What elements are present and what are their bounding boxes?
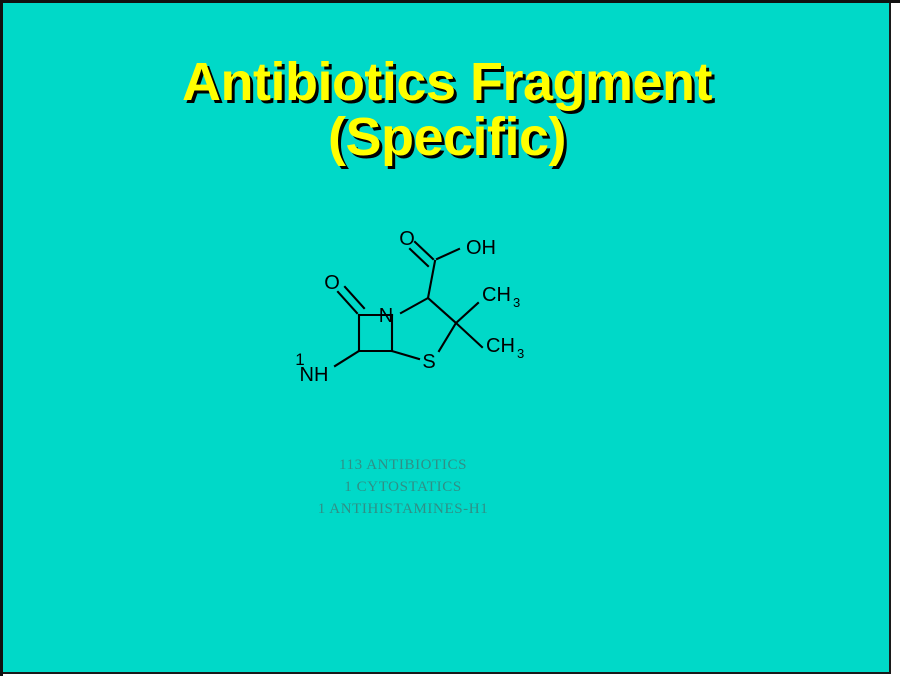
atom-label-ketone-oxygen: O	[324, 272, 340, 294]
title-line-2: (Specific)	[3, 110, 891, 165]
slide-left-border	[0, 0, 3, 676]
atom-label-hydroxyl: OH	[466, 237, 496, 259]
page-title: Antibiotics Fragment (Specific)	[3, 55, 891, 165]
amine-bond	[335, 351, 359, 366]
slide-top-border	[0, 0, 900, 3]
caption-line-antihistamines: 1 ANTIHISTAMINES-H1	[153, 499, 653, 521]
caption-line-cytostatics: 1 CYTOSTATICS	[153, 477, 653, 499]
atom-label-methyl-bottom: CH	[486, 335, 515, 357]
title-line-1: Antibiotics Fragment	[3, 55, 891, 110]
atom-label-methyl-top: CH	[482, 284, 511, 306]
ketone-double-bond	[338, 287, 364, 313]
atom-label-ring-nitrogen: N	[379, 305, 393, 327]
slide-canvas: Antibiotics Fragment (Specific)	[3, 3, 891, 674]
caption-list: 113 ANTIBIOTICS 1 CYTOSTATICS 1 ANTIHIST…	[153, 455, 653, 520]
atom-index-label-1: 1	[295, 350, 304, 369]
chemical-structure-diagram: N S O O OH NH 1 CH 3 CH 3	[273, 218, 543, 403]
carboxyl-group-bonds	[410, 242, 459, 298]
thiazolidine-ring-bonds	[392, 298, 456, 359]
atom-label-methyl-top-subscript: 3	[513, 295, 520, 310]
methyl-bonds	[456, 303, 482, 347]
caption-line-antibiotics: 113 ANTIBIOTICS	[153, 455, 653, 477]
slide-frame: Antibiotics Fragment (Specific)	[0, 0, 900, 685]
atom-label-carboxyl-oxygen: O	[399, 228, 415, 250]
atom-label-methyl-bottom-subscript: 3	[517, 346, 524, 361]
atom-label-ring-sulfur: S	[422, 351, 435, 373]
